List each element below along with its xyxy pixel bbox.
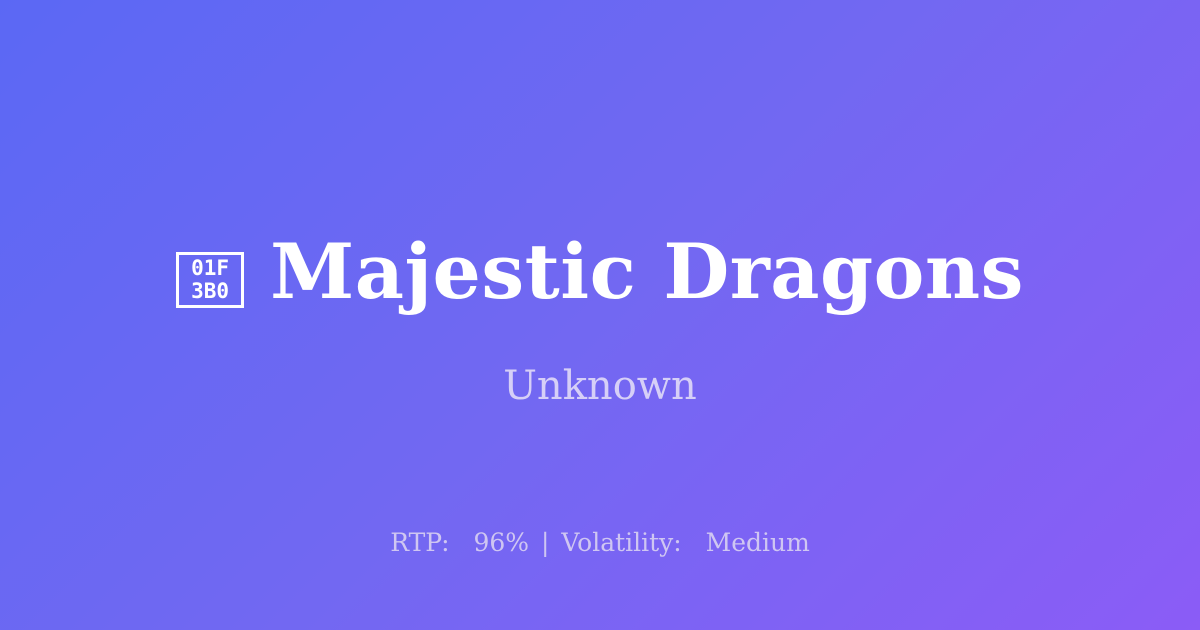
emoji-codepoint-top: 01F [191,257,229,280]
rtp-label: RTP: [390,528,449,557]
title-row: 01F 3B0 Majestic Dragons [0,232,1200,312]
rtp-value: 96% [473,528,529,557]
slot-machine-emoji-icon: 01F 3B0 [176,252,244,308]
volatility-value: Medium [706,528,810,557]
game-meta-line: RTP: 96% | Volatility: Medium [0,528,1200,558]
page-title: Majestic Dragons [270,232,1024,312]
emoji-codepoint-bottom: 3B0 [191,280,229,303]
meta-separator: | [537,528,553,557]
provider-subtitle: Unknown [0,362,1200,410]
game-preview-card: 01F 3B0 Majestic Dragons Unknown RTP: 96… [0,0,1200,630]
volatility-label: Volatility: [561,528,681,557]
